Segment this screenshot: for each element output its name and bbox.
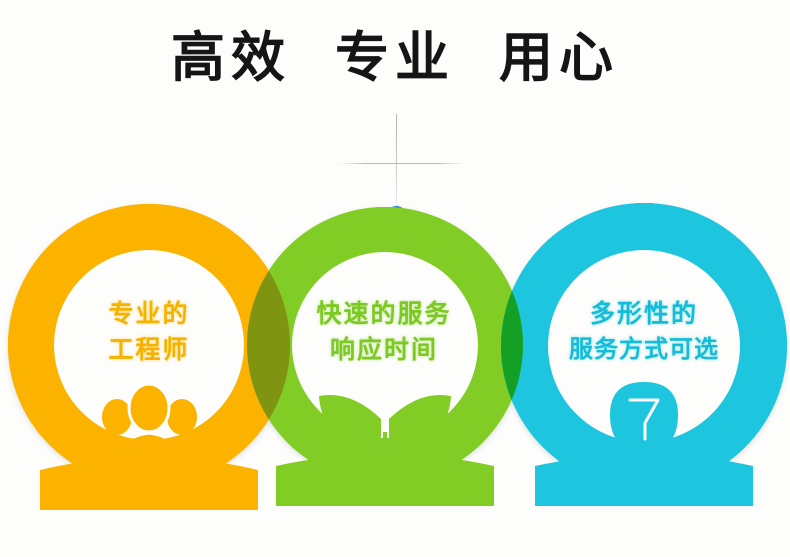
circle-middle-line-1: 快速的服务 xyxy=(269,296,499,332)
circle-right-content: 多形性的 服务方式可选 xyxy=(529,296,759,366)
circle-right-line-2: 服务方式可选 xyxy=(529,332,759,366)
circle-left-line-2: 工程师 xyxy=(34,332,264,368)
circle-middle-line-2: 响应时间 xyxy=(269,332,499,368)
circle-left-line-1: 专业的 xyxy=(34,296,264,332)
circle-left-content: 专业的 工程师 xyxy=(34,296,264,367)
circle-middle-content: 快速的服务 响应时间 xyxy=(269,296,499,367)
venn-rings-group xyxy=(0,0,790,557)
service-highlights-banner: 高效专业用心 xyxy=(0,0,790,557)
circle-right-line-1: 多形性的 xyxy=(529,296,759,332)
venn-rings-svg xyxy=(0,0,790,557)
